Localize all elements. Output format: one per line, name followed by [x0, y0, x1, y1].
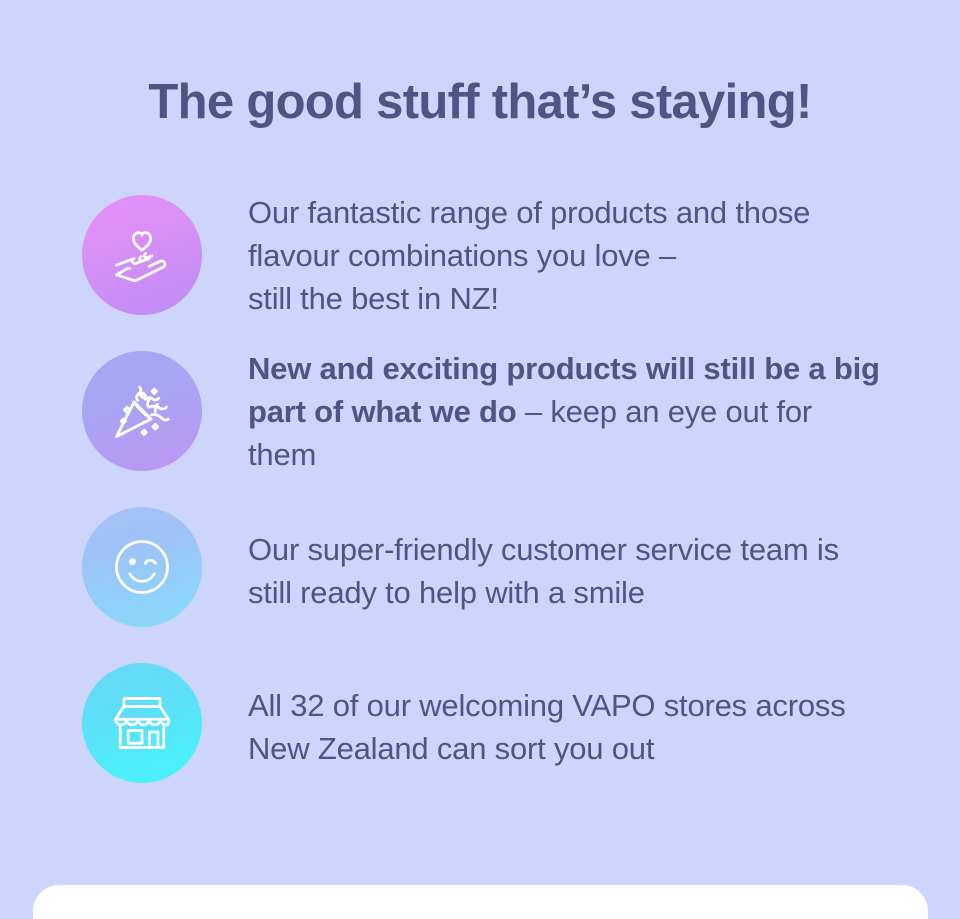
feature-text-segment: All 32 of our welcoming VAPO stores acro… [248, 688, 846, 766]
feature-icon-badge [82, 507, 202, 627]
bottom-card-panel [33, 885, 928, 919]
winking-face-icon [108, 533, 176, 601]
feature-item: All 32 of our welcoming VAPO stores acro… [82, 663, 882, 819]
feature-icon-badge [82, 663, 202, 783]
feature-text-segment: still the best in NZ! [248, 281, 499, 316]
party-popper-icon [108, 377, 176, 445]
feature-list: Our fantastic range of products and thos… [82, 195, 882, 819]
feature-item: Our fantastic range of products and thos… [82, 195, 882, 351]
feature-text-segment: Our fantastic range of products and thos… [248, 195, 810, 273]
page-title: The good stuff that’s staying! [0, 74, 960, 130]
feature-item: New and exciting products will still be … [82, 351, 882, 507]
feature-text: All 32 of our welcoming VAPO stores acro… [248, 684, 882, 770]
feature-text: New and exciting products will still be … [248, 347, 882, 476]
feature-text-segment: Our super-friendly customer service team… [248, 532, 839, 610]
page-root: The good stuff that’s staying! [0, 0, 960, 919]
storefront-icon [108, 689, 176, 757]
feature-text: Our fantastic range of products and thos… [248, 191, 882, 320]
feature-item: Our super-friendly customer service team… [82, 507, 882, 663]
feature-icon-badge [82, 195, 202, 315]
hand-holding-heart-icon [108, 221, 176, 289]
feature-text: Our super-friendly customer service team… [248, 528, 882, 614]
feature-icon-badge [82, 351, 202, 471]
